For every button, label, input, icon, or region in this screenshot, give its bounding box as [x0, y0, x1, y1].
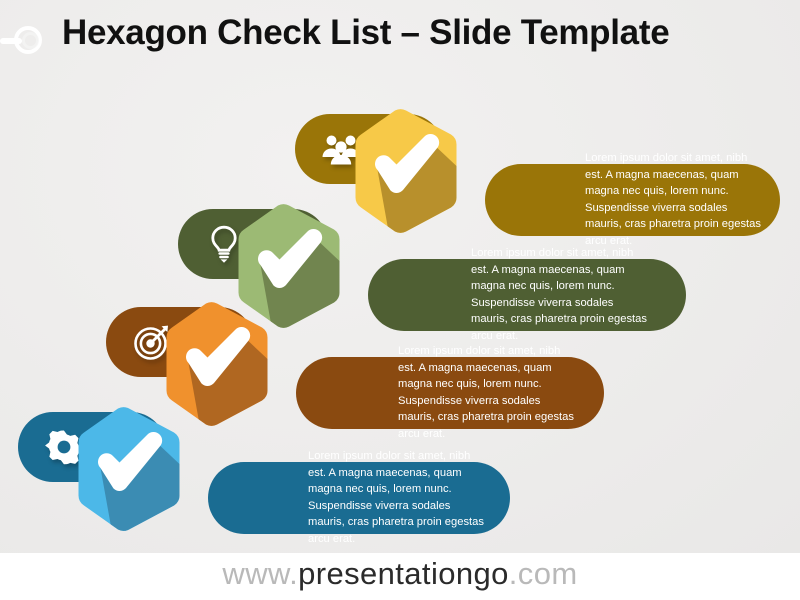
slide-canvas: Hexagon Check List – Slide Template Lore… — [0, 0, 800, 600]
footer-url: www.presentationgo.com — [0, 556, 800, 592]
footer-url-prefix: www. — [222, 556, 298, 591]
footer-url-suffix: .com — [509, 556, 578, 591]
bullet-ring-inner — [22, 32, 39, 49]
description-pill[interactable]: Lorem ipsum dolor sit amet, nibh est. A … — [208, 462, 510, 534]
description-text: Lorem ipsum dolor sit amet, nibh est. A … — [398, 343, 578, 443]
bullet-decoration-icon — [0, 25, 56, 57]
checklist-row: Lorem ipsum dolor sit amet, nibh est. A … — [295, 107, 785, 227]
hexagon-check[interactable] — [347, 108, 465, 234]
footer-url-brand: presentationgo — [298, 556, 509, 591]
footer-bar: www.presentationgo.com — [0, 553, 800, 600]
description-text: Lorem ipsum dolor sit amet, nibh est. A … — [471, 245, 651, 345]
description-pill[interactable]: Lorem ipsum dolor sit amet, nibh est. A … — [368, 259, 686, 331]
page-title: Hexagon Check List – Slide Template — [62, 12, 702, 53]
description-text: Lorem ipsum dolor sit amet, nibh est. A … — [585, 150, 765, 250]
description-pill[interactable]: Lorem ipsum dolor sit amet, nibh est. A … — [485, 164, 780, 236]
description-text: Lorem ipsum dolor sit amet, nibh est. A … — [308, 448, 488, 548]
hexagon-check[interactable] — [70, 406, 188, 532]
description-pill[interactable]: Lorem ipsum dolor sit amet, nibh est. A … — [296, 357, 604, 429]
